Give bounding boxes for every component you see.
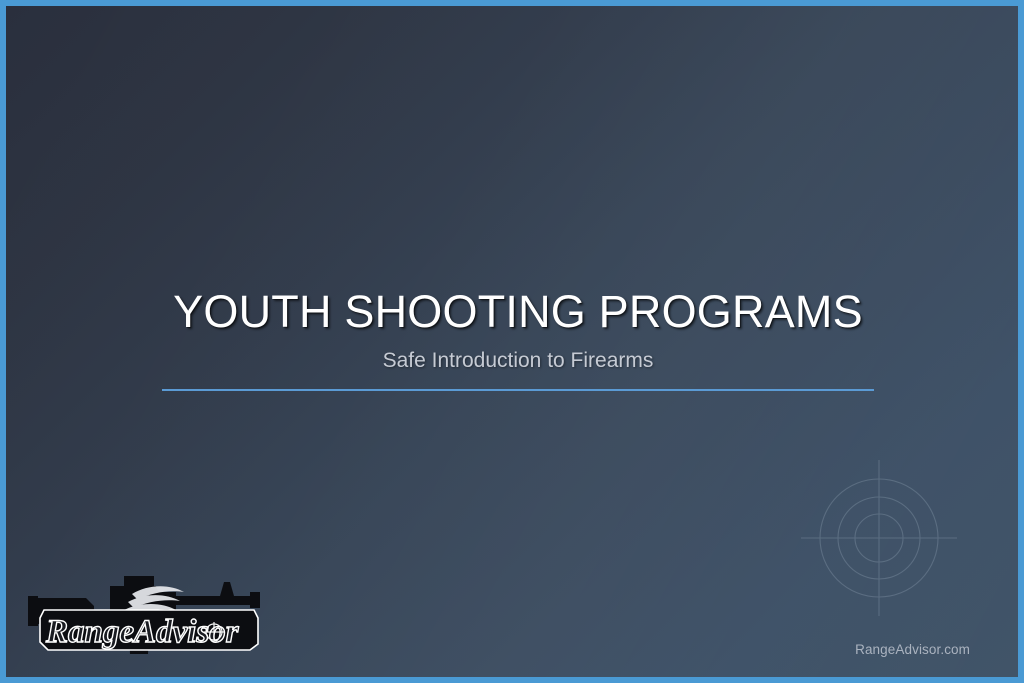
title-slide: YOUTH SHOOTING PROGRAMS Safe Introductio…	[0, 0, 1024, 683]
footer-url: RangeAdvisor.com	[855, 642, 970, 657]
accent-divider	[162, 389, 874, 391]
page-title: YOUTH SHOOTING PROGRAMS	[157, 288, 879, 336]
title-block: YOUTH SHOOTING PROGRAMS Safe Introductio…	[157, 288, 879, 391]
brand-logo: RangeAdvisor	[24, 572, 272, 670]
page-subtitle: Safe Introduction to Firearms	[157, 348, 879, 373]
